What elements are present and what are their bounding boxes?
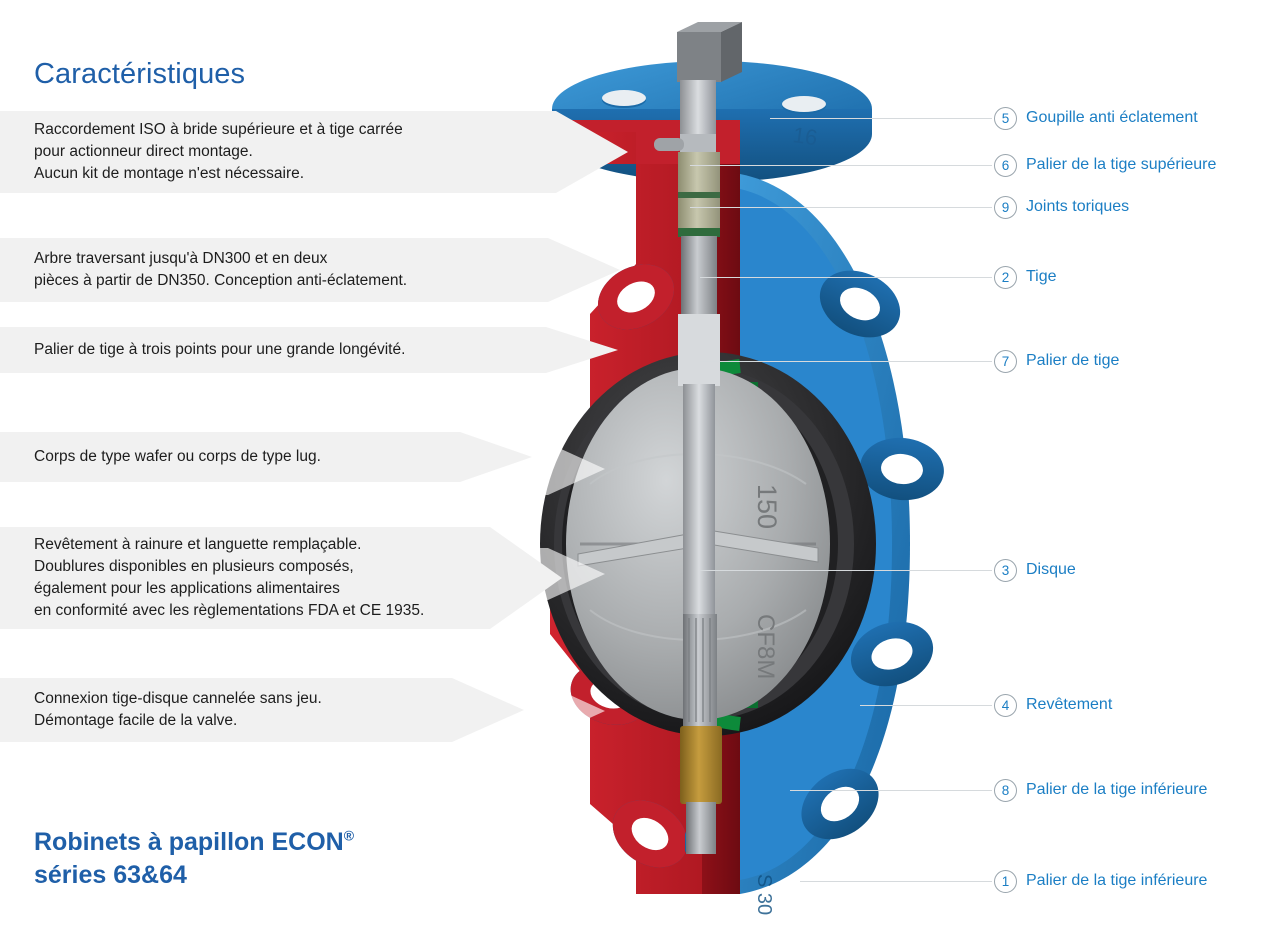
callout-7[interactable]: 7 Palier de tige bbox=[994, 349, 1119, 373]
callout-number: 7 bbox=[994, 350, 1017, 373]
callout-number: 6 bbox=[994, 154, 1017, 177]
callout-label: Tige bbox=[1026, 268, 1057, 286]
product-title-line2: séries 63&64 bbox=[34, 861, 187, 889]
feature-text: Revêtement à rainure et languette rempla… bbox=[0, 534, 424, 622]
o-ring-upper bbox=[678, 192, 720, 198]
disc-material-marking: CF8M bbox=[752, 614, 779, 679]
callout-9[interactable]: 9 Joints toriques bbox=[994, 195, 1129, 219]
page-title: Caractéristiques bbox=[34, 58, 245, 91]
callout-label: Revêtement bbox=[1026, 696, 1112, 714]
callout-label: Palier de la tige supérieure bbox=[1026, 156, 1216, 174]
callout-number: 1 bbox=[994, 870, 1017, 893]
callout-label: Palier de tige bbox=[1026, 352, 1119, 370]
feature-text: Arbre traversant jusqu'à DN300 et en deu… bbox=[0, 248, 407, 292]
feature-text: Palier de tige à trois points pour une g… bbox=[0, 339, 405, 361]
feature-text: Connexion tige-disque cannelée sans jeu.… bbox=[0, 688, 322, 732]
body-size-marking: S 30 bbox=[753, 874, 775, 915]
leader-line-6 bbox=[690, 165, 992, 166]
callout-number: 4 bbox=[994, 694, 1017, 717]
diagram-canvas: 16 S 30 150 bbox=[0, 0, 1280, 931]
leader-line-1 bbox=[800, 881, 992, 882]
feature-band-iso-top-flange: Raccordement ISO à bride supérieure et à… bbox=[0, 111, 556, 193]
leader-line-4 bbox=[860, 705, 992, 706]
callout-number: 8 bbox=[994, 779, 1017, 802]
callout-number: 9 bbox=[994, 196, 1017, 219]
callout-label: Palier de la tige inférieure bbox=[1026, 781, 1207, 799]
o-ring-lower bbox=[678, 228, 720, 237]
feature-text: Corps de type wafer ou corps de type lug… bbox=[0, 446, 321, 468]
registered-mark: ® bbox=[344, 828, 354, 844]
product-title-line1: Robinets à papillon ECON bbox=[34, 828, 344, 856]
feature-band-body-type: Corps de type wafer ou corps de type lug… bbox=[0, 432, 460, 482]
callout-4[interactable]: 4 Revêtement bbox=[994, 693, 1112, 717]
callout-2[interactable]: 2 Tige bbox=[994, 265, 1057, 289]
feature-band-stem-disc-connection: Connexion tige-disque cannelée sans jeu.… bbox=[0, 678, 452, 742]
feature-band-through-shaft: Arbre traversant jusqu'à DN300 et en deu… bbox=[0, 238, 548, 302]
feature-text: Raccordement ISO à bride supérieure et à… bbox=[0, 119, 403, 185]
leader-line-2 bbox=[700, 277, 992, 278]
splined-stem-disc-connection bbox=[683, 614, 717, 726]
callout-label: Disque bbox=[1026, 561, 1076, 579]
upper-stem-bearing bbox=[678, 152, 720, 230]
callout-6[interactable]: 6 Palier de la tige supérieure bbox=[994, 153, 1216, 177]
disc-rating-marking: 150 bbox=[752, 484, 782, 529]
callout-label: Goupille anti éclatement bbox=[1026, 109, 1198, 127]
callout-number: 3 bbox=[994, 559, 1017, 582]
callout-number: 2 bbox=[994, 266, 1017, 289]
stem-bearing-mid bbox=[678, 314, 720, 386]
callout-label: Palier de la tige inférieure bbox=[1026, 872, 1207, 890]
callout-number: 5 bbox=[994, 107, 1017, 130]
body-pressure-marking: 16 bbox=[791, 122, 819, 150]
product-title: Robinets à papillon ECON® séries 63&64 bbox=[34, 826, 464, 892]
callout-5[interactable]: 5 Goupille anti éclatement bbox=[994, 106, 1198, 130]
leader-line-3 bbox=[700, 570, 992, 571]
feature-band-liner: Revêtement à rainure et languette rempla… bbox=[0, 527, 490, 629]
leader-line-8 bbox=[790, 790, 992, 791]
leader-line-9 bbox=[690, 207, 992, 208]
leader-line-5 bbox=[770, 118, 992, 119]
feature-band-three-point-bearing: Palier de tige à trois points pour une g… bbox=[0, 327, 546, 373]
callout-8[interactable]: 8 Palier de la tige inférieure bbox=[994, 778, 1207, 802]
lower-stem-bearing bbox=[680, 726, 722, 804]
callout-3[interactable]: 3 Disque bbox=[994, 558, 1076, 582]
callout-1[interactable]: 1 Palier de la tige inférieure bbox=[994, 869, 1207, 893]
anti-blowout-pin bbox=[654, 138, 684, 151]
leader-line-7 bbox=[700, 361, 992, 362]
callout-label: Joints toriques bbox=[1026, 198, 1129, 216]
